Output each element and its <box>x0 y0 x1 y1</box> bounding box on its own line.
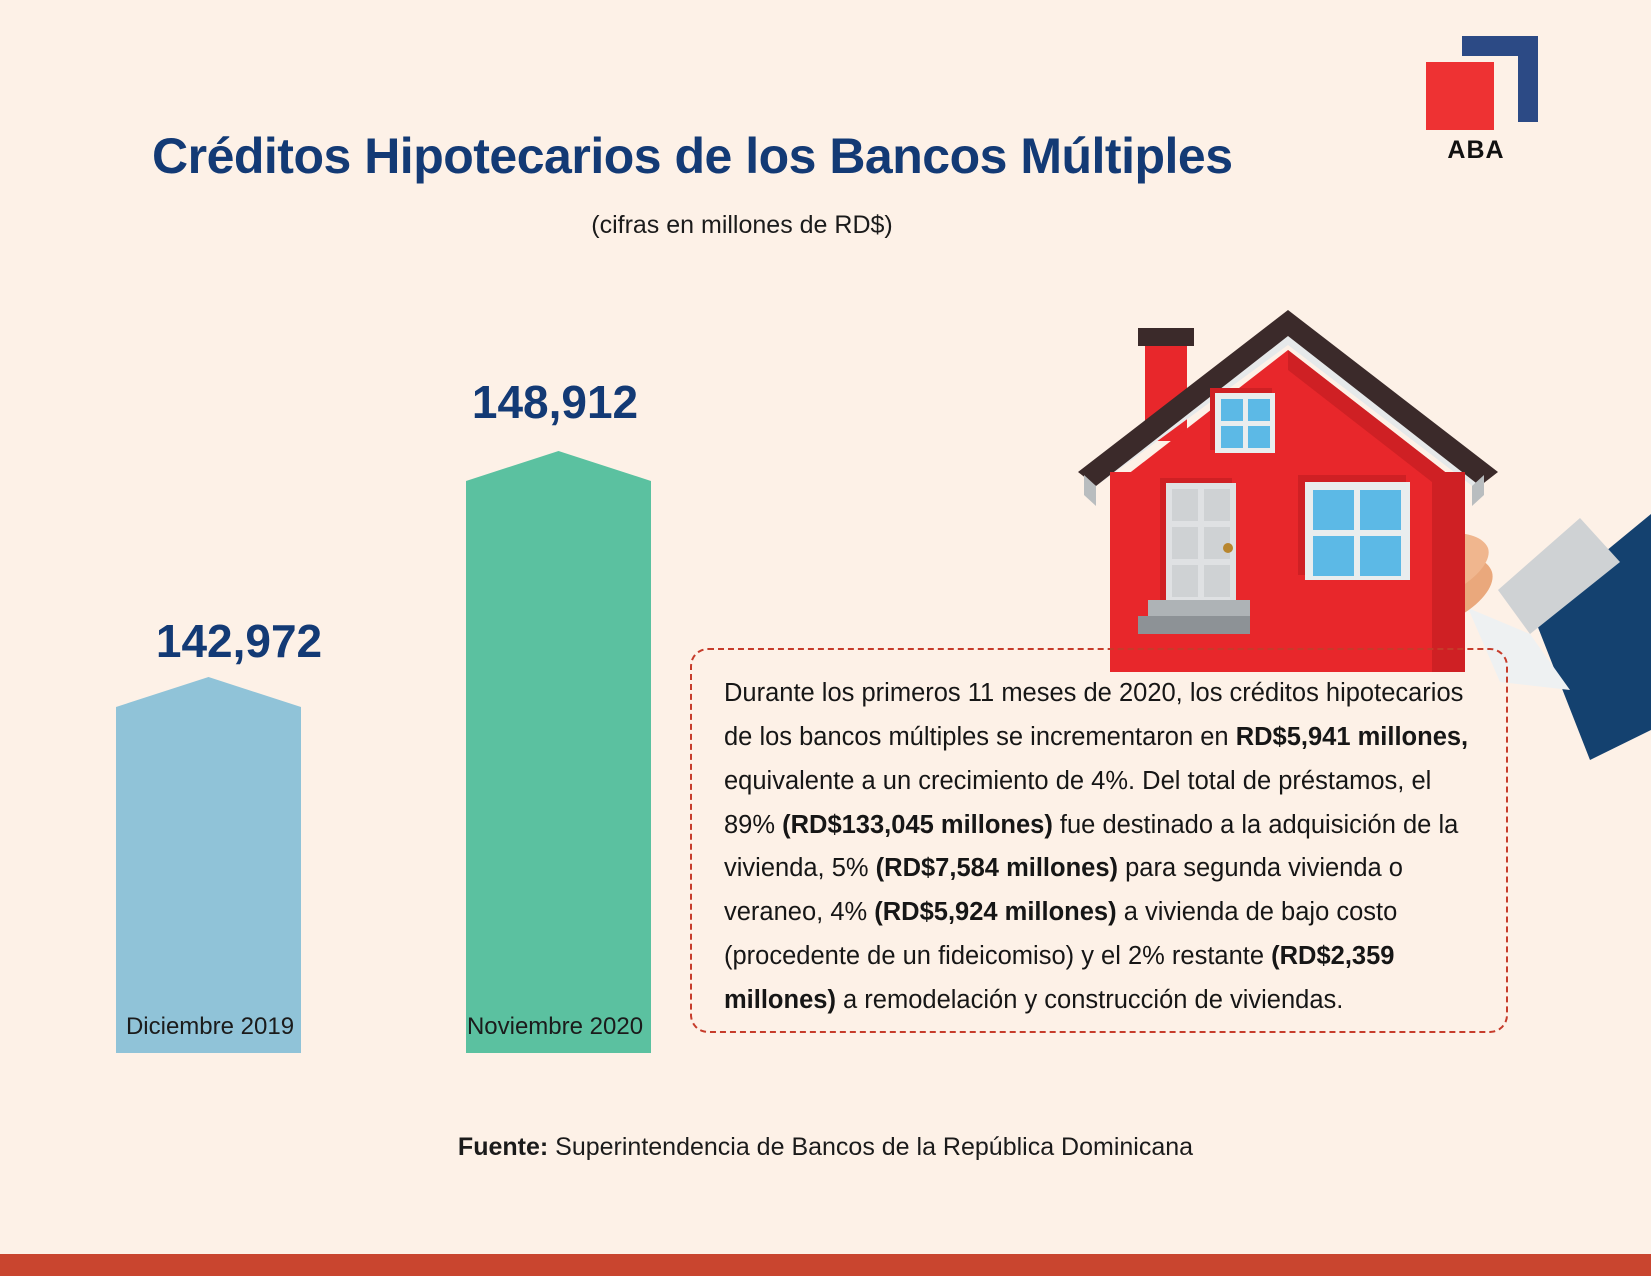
page-subtitle: (cifras en millones de RD$) <box>152 211 1332 240</box>
callout-segment-3: (RD$133,045 millones) <box>782 811 1053 839</box>
aba-logo: ABA <box>1418 36 1538 176</box>
bar-value-label-0: 142,972 <box>64 614 414 668</box>
page-title: Créditos Hipotecarios de los Bancos Múlt… <box>152 129 1332 184</box>
logo-text: ABA <box>1418 136 1534 165</box>
bar-shape-svg-1 <box>466 451 651 1053</box>
source-line: Fuente: Superintendencia de Bancos de la… <box>0 1133 1651 1162</box>
bar-value-label-1: 148,912 <box>380 375 730 429</box>
logo-bracket-vertical-icon <box>1518 36 1538 122</box>
source-value: Superintendencia de Bancos de la Repúbli… <box>548 1133 1193 1161</box>
bottom-accent-bar <box>0 1254 1651 1276</box>
callout-segment-10: a remodelación y construcción de viviend… <box>836 986 1343 1014</box>
bar-category-label-0: Diciembre 2019 <box>30 1013 390 1041</box>
logo-square-icon <box>1426 62 1494 130</box>
infographic-canvas: Créditos Hipotecarios de los Bancos Múlt… <box>0 0 1651 1276</box>
bar-noviembre-2020 <box>466 451 651 1053</box>
callout-segment-1: RD$5,941 millones, <box>1236 723 1468 751</box>
bar-category-label-1: Noviembre 2020 <box>375 1013 735 1041</box>
callout-text: Durante los primeros 11 meses de 2020, l… <box>724 672 1476 1023</box>
bar-shape-svg-0 <box>116 677 301 1053</box>
callout-segment-7: (RD$5,924 millones) <box>874 898 1116 926</box>
source-label: Fuente: <box>458 1133 548 1161</box>
bar-diciembre-2019 <box>116 677 301 1053</box>
callout-segment-5: (RD$7,584 millones) <box>876 854 1118 882</box>
